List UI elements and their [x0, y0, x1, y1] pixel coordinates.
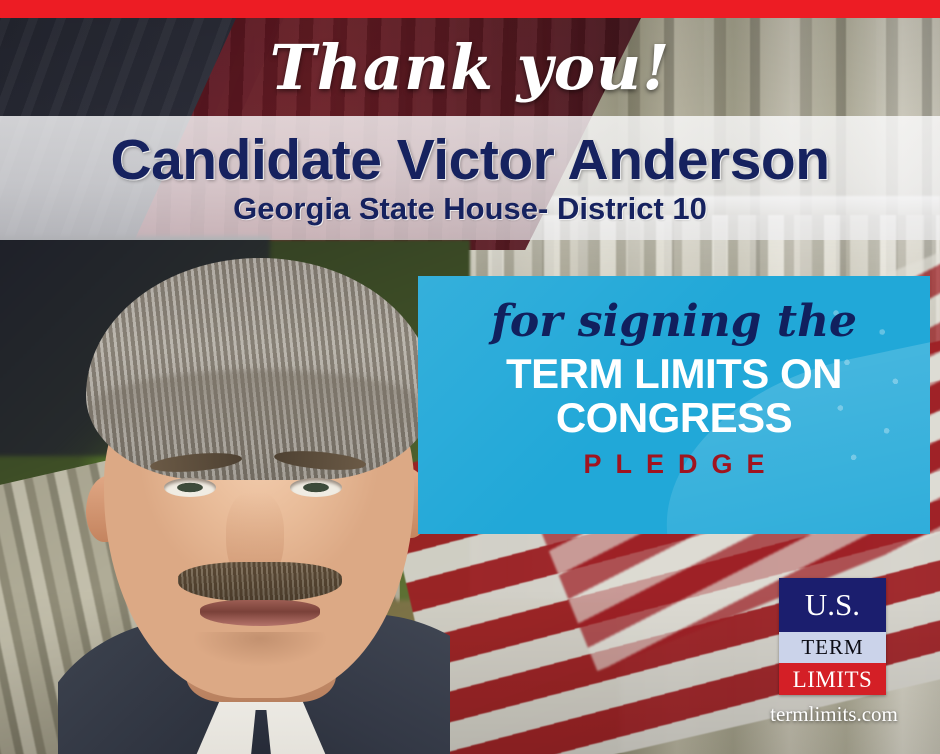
- mouth: [200, 600, 320, 626]
- logo-band-us: U.S.: [779, 578, 886, 632]
- website-url[interactable]: termlimits.com: [744, 702, 924, 727]
- logo-text-us: U.S.: [805, 589, 860, 620]
- chin-shading: [194, 632, 326, 666]
- eye-right: [290, 478, 342, 497]
- top-red-accent-bar: [0, 0, 940, 18]
- logo-band-term: TERM: [779, 632, 886, 664]
- hair: [86, 258, 434, 480]
- logo-text-term: TERM: [801, 637, 863, 658]
- thank-you-script-heading: Thank you!: [0, 20, 940, 115]
- eye-left: [164, 478, 216, 497]
- mustache: [178, 562, 342, 602]
- candidate-name: Candidate Victor Anderson: [110, 131, 829, 189]
- candidate-portrait-photo: [58, 240, 450, 754]
- logo-band-limits: LIMITS: [779, 663, 886, 695]
- pledge-headline-line-1: TERM LIMITS ON: [506, 352, 842, 395]
- term-limits-thank-you-graphic: Thank you! Candidate Victor Anderson Geo…: [0, 0, 940, 754]
- us-term-limits-logo[interactable]: U.S. TERM LIMITS: [779, 578, 886, 695]
- pledge-script-line: for signing the: [491, 298, 857, 346]
- candidate-title-band: Candidate Victor Anderson Georgia State …: [0, 116, 940, 240]
- candidate-office: Georgia State House- District 10: [233, 193, 707, 226]
- pledge-headline-line-2: CONGRESS: [556, 396, 792, 439]
- pledge-word: PLEDGE: [569, 449, 778, 480]
- logo-text-limits: LIMITS: [793, 668, 873, 691]
- hairline-shadow: [92, 370, 428, 446]
- pledge-callout-box: for signing the TERM LIMITS ON CONGRESS …: [418, 276, 930, 534]
